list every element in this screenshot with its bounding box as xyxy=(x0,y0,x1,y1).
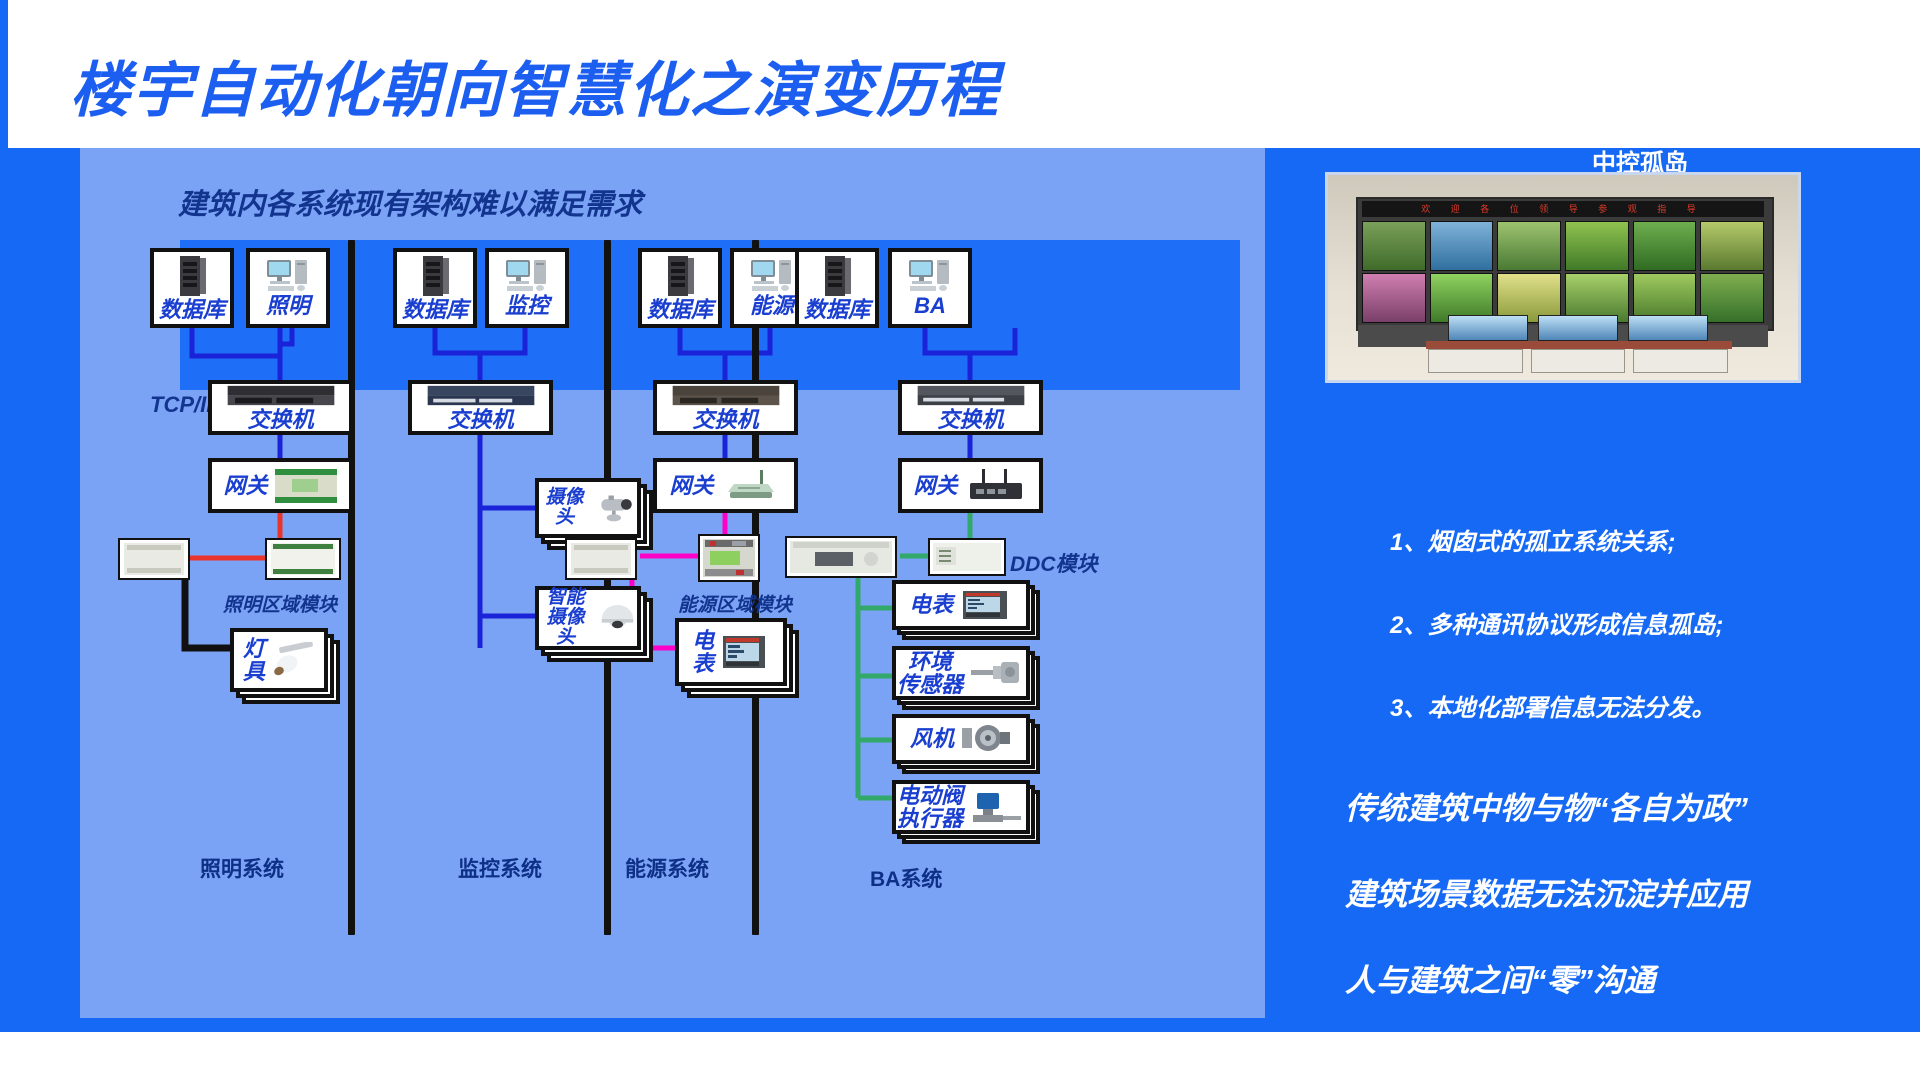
card-switch-lighting[interactable]: 交换机 xyxy=(208,380,353,435)
bullet-item-1: 1、烟囱式的孤立系统关系; xyxy=(1390,522,1675,557)
card-label: 数据库 xyxy=(402,298,468,321)
card-label: 网关 xyxy=(669,474,713,497)
industrial-gateway-icon xyxy=(964,467,1028,505)
card-stack-valve-actuator: 电动阀 执行器 xyxy=(892,780,1042,846)
zone-label-ba-ddc: DDC模块 xyxy=(1010,548,1130,578)
card-lamp[interactable]: 灯 具 xyxy=(230,628,328,692)
gateway-controller-icon xyxy=(274,468,338,504)
card-label: 交换机 xyxy=(692,408,758,431)
card-smart-camera[interactable]: 智能 摄像头 xyxy=(535,586,641,650)
card-label: 环境 传感器 xyxy=(897,650,963,696)
desktop-pc-icon xyxy=(749,258,795,294)
card-stack-env-sensor: 环境 传感器 xyxy=(892,646,1042,712)
card-label: 网关 xyxy=(913,474,957,497)
card-label: 风机 xyxy=(910,727,954,750)
module-energy-zone-a[interactable] xyxy=(565,538,637,580)
desktop-pc-icon xyxy=(265,258,311,294)
slide-page: 楼宇自动化朝向智慧化之演变历程 建筑内各系统现有架构难以满足需求 xyxy=(0,0,1920,1078)
wifi-router-icon xyxy=(720,468,782,504)
column-divider-1 xyxy=(348,240,355,935)
card-stack-energy-meter: 电 表 xyxy=(675,618,805,702)
card-label: 电 表 xyxy=(692,629,714,675)
card-camera[interactable]: 摄像头 xyxy=(535,478,641,538)
led-banner: 欢 迎 各 位 领 导 参 观 指 导 xyxy=(1362,201,1764,217)
card-fan[interactable]: 风机 xyxy=(892,714,1030,764)
card-switch-energy[interactable]: 交换机 xyxy=(653,380,798,435)
card-database-energy[interactable]: 数据库 xyxy=(638,248,722,328)
card-gateway-lighting[interactable]: 网关 xyxy=(208,458,353,513)
spotlight-icon xyxy=(271,642,315,678)
architecture-panel: 建筑内各系统现有架构难以满足需求 xyxy=(80,148,1265,1018)
card-energy-meter[interactable]: 电 表 xyxy=(675,618,787,686)
card-lighting-pc[interactable]: 照明 xyxy=(246,248,330,328)
valve-actuator-icon xyxy=(969,790,1025,824)
card-label: 网关 xyxy=(223,474,267,497)
card-env-sensor[interactable]: 环境 传感器 xyxy=(892,646,1030,700)
card-ba-pc[interactable]: BA xyxy=(888,248,972,328)
card-database-ba[interactable]: 数据库 xyxy=(795,248,879,328)
server-icon xyxy=(663,254,697,298)
din-meter-module-icon xyxy=(702,538,756,578)
zone-label-lighting: 照明区域模块 xyxy=(190,590,370,617)
card-label: 交换机 xyxy=(247,408,313,431)
module-ddc-secondary[interactable] xyxy=(928,538,1006,576)
card-label: 电动阀 执行器 xyxy=(897,784,963,830)
ddc-controller-icon xyxy=(789,540,893,574)
card-switch-ba[interactable]: 交换机 xyxy=(898,380,1043,435)
card-valve-actuator[interactable]: 电动阀 执行器 xyxy=(892,780,1030,834)
card-gateway-ba[interactable]: 网关 xyxy=(898,458,1043,513)
switch-icon xyxy=(911,384,1031,408)
tagline-2: 建筑场景数据无法沉淀并应用 xyxy=(1345,869,1748,914)
switch-icon xyxy=(666,384,786,408)
card-database-lighting[interactable]: 数据库 xyxy=(150,248,234,328)
control-room-photo: 欢 迎 各 位 领 导 参 观 指 导 xyxy=(1325,172,1801,383)
card-database-cctv[interactable]: 数据库 xyxy=(393,248,477,328)
card-label: 监控 xyxy=(505,294,549,317)
bottom-white-band xyxy=(0,1032,1920,1078)
power-meter-icon xyxy=(959,588,1013,622)
card-label: 能源 xyxy=(750,294,794,317)
column-divider-3 xyxy=(752,240,759,935)
din-module-icon xyxy=(270,542,336,576)
card-gateway-energy[interactable]: 网关 xyxy=(653,458,798,513)
tagline-1: 传统建筑中物与物“各自为政” xyxy=(1345,783,1748,828)
card-label: BA xyxy=(914,294,946,317)
system-label-lighting: 照明系统 xyxy=(200,853,284,883)
server-icon xyxy=(175,254,209,298)
card-ba-meter[interactable]: 电表 xyxy=(892,580,1030,630)
card-stack-ba-meter: 电表 xyxy=(892,580,1042,642)
din-module-icon xyxy=(570,542,632,576)
card-label: 数据库 xyxy=(647,298,713,321)
module-ba-ddc[interactable] xyxy=(785,536,897,578)
switch-icon xyxy=(421,384,541,408)
card-label: 智能 摄像头 xyxy=(539,588,592,648)
card-label: 数据库 xyxy=(804,298,870,321)
card-stack-fan: 风机 xyxy=(892,714,1042,776)
bullet-camera-icon xyxy=(596,492,637,524)
dome-camera-icon xyxy=(598,601,637,635)
card-label: 电表 xyxy=(909,593,953,616)
desktop-pc-icon xyxy=(907,258,953,294)
card-label: 交换机 xyxy=(937,408,1003,431)
system-label-cctv: 监控系统 xyxy=(458,853,542,883)
card-cctv-pc[interactable]: 监控 xyxy=(485,248,569,328)
environment-sensor-icon xyxy=(969,657,1025,689)
fan-icon xyxy=(960,722,1012,756)
card-label: 交换机 xyxy=(447,408,513,431)
switch-icon xyxy=(221,384,341,408)
card-label: 照明 xyxy=(266,294,310,317)
din-module-icon xyxy=(123,542,185,576)
module-energy-zone-b[interactable] xyxy=(698,534,760,582)
server-icon xyxy=(418,254,452,298)
power-meter-icon xyxy=(720,632,770,672)
server-icon xyxy=(820,254,854,298)
system-label-ba: BA系统 xyxy=(870,863,942,893)
card-label: 数据库 xyxy=(159,298,225,321)
zone-label-energy: 能源区域模块 xyxy=(635,590,835,617)
panel-subtitle: 建筑内各系统现有架构难以满足需求 xyxy=(178,181,642,223)
card-label: 摄像头 xyxy=(539,488,590,528)
card-label: 灯 具 xyxy=(243,637,265,683)
system-label-energy: 能源系统 xyxy=(625,853,709,883)
module-lighting-zone-a[interactable] xyxy=(118,538,190,580)
bullet-item-2: 2、多种通讯协议形成信息孤岛; xyxy=(1390,605,1723,640)
module-lighting-zone-b[interactable] xyxy=(265,538,341,580)
ddc-module-icon xyxy=(932,542,1002,572)
tagline-3: 人与建筑之间“零”沟通 xyxy=(1345,955,1655,1000)
page-title: 楼宇自动化朝向智慧化之演变历程 xyxy=(70,42,1000,129)
bullet-item-3: 3、本地化部署信息无法分发。 xyxy=(1390,688,1715,723)
desktop-pc-icon xyxy=(504,258,550,294)
card-switch-cctv[interactable]: 交换机 xyxy=(408,380,553,435)
card-stack-lamp: 灯 具 xyxy=(230,628,340,704)
